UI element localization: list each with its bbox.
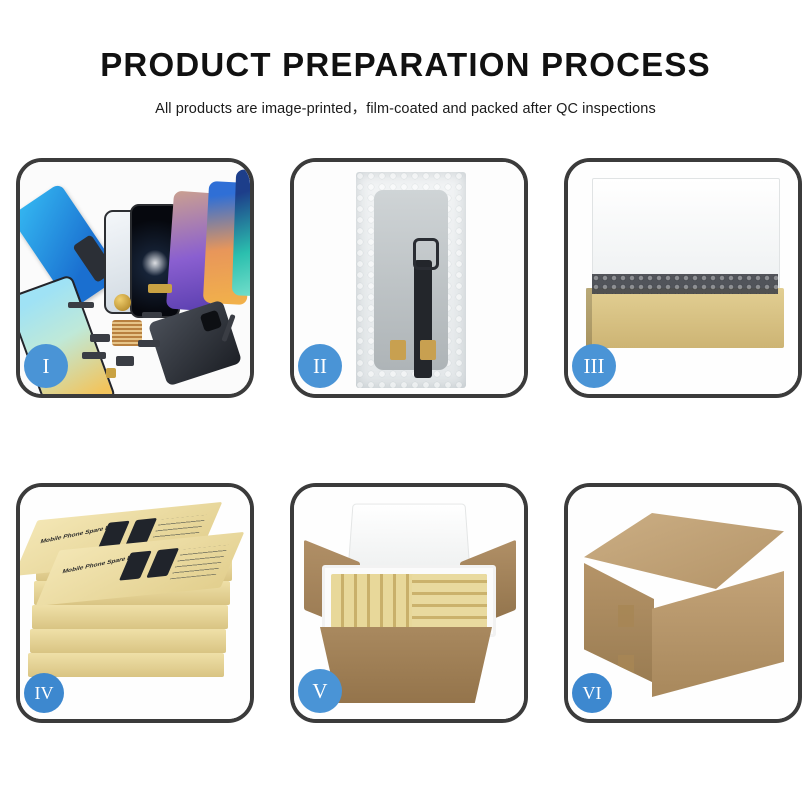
carton-body [320, 627, 492, 703]
process-step-1: I [16, 158, 254, 398]
box-stack: Mobile Phone Spare Parts Mobile Phone Sp… [26, 503, 248, 703]
process-step-4: Mobile Phone Spare Parts Mobile Phone Sp… [16, 483, 254, 723]
step-badge-2: II [298, 344, 342, 388]
process-step-6: VI [564, 483, 802, 723]
carton-right-face [652, 571, 784, 697]
page-subtitle: All products are image-printed，film-coat… [0, 97, 811, 118]
flex-part-4 [116, 356, 134, 366]
page-title: PRODUCT PREPARATION PROCESS [0, 48, 811, 83]
flex-part-6 [142, 312, 162, 318]
stacked-box-5 [28, 653, 224, 677]
step-badge-4: IV [24, 673, 64, 713]
foam-tray [322, 565, 496, 637]
header: PRODUCT PREPARATION PROCESS All products… [0, 0, 811, 118]
process-step-2: II [290, 158, 528, 398]
step-badge-5: V [298, 669, 342, 713]
speaker-part [114, 294, 131, 311]
flex-part-3 [82, 352, 106, 359]
step-badge-3: III [572, 344, 616, 388]
screen-flex-cable [414, 260, 432, 378]
flex-part-2 [90, 334, 110, 342]
carton-tape-2 [618, 655, 634, 675]
flex-part-5 [138, 340, 160, 347]
step-badge-6: VI [572, 673, 612, 713]
process-step-3: III [564, 158, 802, 398]
gold-connector-1 [148, 284, 172, 293]
bubble-wrap-bag [356, 172, 466, 388]
process-step-grid: I II [16, 158, 798, 758]
wrapped-screen [374, 190, 448, 370]
product-preparation-infographic: PRODUCT PREPARATION PROCESS All products… [0, 0, 811, 811]
carton-tape-1 [618, 605, 634, 627]
stacked-box-3 [32, 605, 228, 629]
gold-connector-right [420, 340, 436, 360]
stacked-box-4 [30, 629, 226, 653]
gold-connector-left [390, 340, 406, 360]
step-badge-1: I [24, 344, 68, 388]
teal-phone [232, 169, 250, 296]
kraft-boxes-row-2 [412, 574, 487, 628]
carton-left-face [584, 563, 654, 683]
flex-part-1 [68, 302, 94, 308]
carton-top-face [584, 513, 784, 589]
lid-text-lines-front [170, 545, 229, 579]
kraft-tray [586, 288, 784, 348]
gold-connector-2 [106, 368, 116, 378]
process-step-5: V [290, 483, 528, 723]
